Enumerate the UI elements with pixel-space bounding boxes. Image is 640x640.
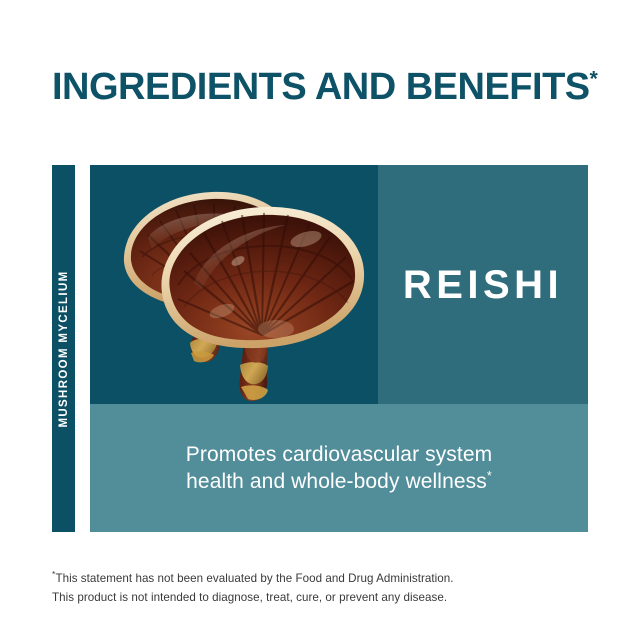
disclaimer-line-1: *This statement has not been evaluated b…: [52, 570, 572, 589]
ingredient-card: MUSHROOM MYCELIUM: [52, 165, 588, 532]
disclaimer-line-2: This product is not intended to diagnose…: [52, 589, 572, 608]
category-strip-label: MUSHROOM MYCELIUM: [58, 270, 70, 427]
category-strip: MUSHROOM MYCELIUM: [52, 165, 75, 532]
benefit-line-2: health and whole-body wellness: [186, 470, 487, 493]
disclaimer: *This statement has not been evaluated b…: [52, 570, 572, 608]
page-title-asterisk: *: [590, 67, 598, 90]
benefit-band: Promotes cardiovascular system health an…: [90, 404, 588, 532]
benefit-asterisk: *: [487, 469, 492, 483]
benefit-line-1: Promotes cardiovascular system: [186, 443, 492, 466]
disclaimer-line-1-text: This statement has not been evaluated by…: [55, 572, 453, 585]
ingredient-name-panel: REISHI: [378, 165, 588, 404]
page-title: INGREDIENTS AND BENEFITS*: [52, 68, 598, 106]
ingredient-photo-panel: [90, 165, 378, 404]
page-title-text: INGREDIENTS AND BENEFITS: [52, 66, 590, 108]
ingredient-panel: REISHI Promotes cardiovascular system he…: [90, 165, 588, 532]
ingredient-name: REISHI: [403, 265, 563, 305]
benefit-text: Promotes cardiovascular system health an…: [168, 441, 510, 496]
reishi-mushroom-photo: [90, 165, 378, 404]
ingredient-panel-top: REISHI: [90, 165, 588, 404]
